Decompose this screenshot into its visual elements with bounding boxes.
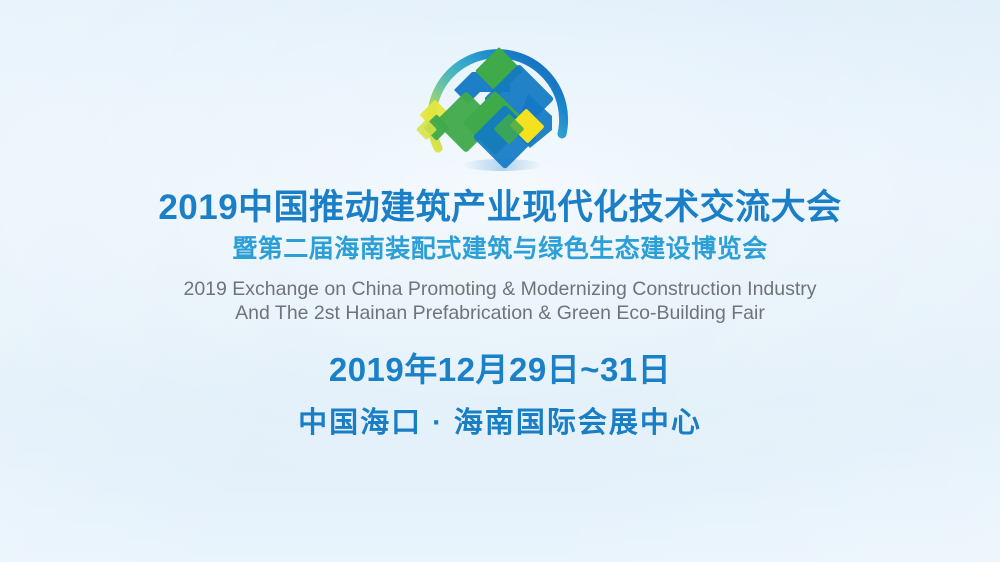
english-title-line-1: 2019 Exchange on China Promoting & Moder… bbox=[0, 278, 1000, 302]
page-subtitle: 暨第二届海南装配式建筑与绿色生态建设博览会 bbox=[0, 232, 1000, 266]
conference-logo bbox=[410, 22, 590, 184]
conference-poster: 2019中国推动建筑产业现代化技术交流大会 暨第二届海南装配式建筑与绿色生态建设… bbox=[0, 0, 1000, 562]
page-title: 2019中国推动建筑产业现代化技术交流大会 bbox=[0, 186, 1000, 230]
event-date: 2019年12月29日~31日 bbox=[0, 349, 1000, 391]
logo-graphic bbox=[410, 22, 590, 184]
event-venue: 中国海口 · 海南国际会展中心 bbox=[0, 404, 1000, 442]
poster-text-block: 2019中国推动建筑产业现代化技术交流大会 暨第二届海南装配式建筑与绿色生态建设… bbox=[0, 186, 1000, 442]
english-title-line-2: And The 2st Hainan Prefabrication & Gree… bbox=[0, 302, 1000, 326]
